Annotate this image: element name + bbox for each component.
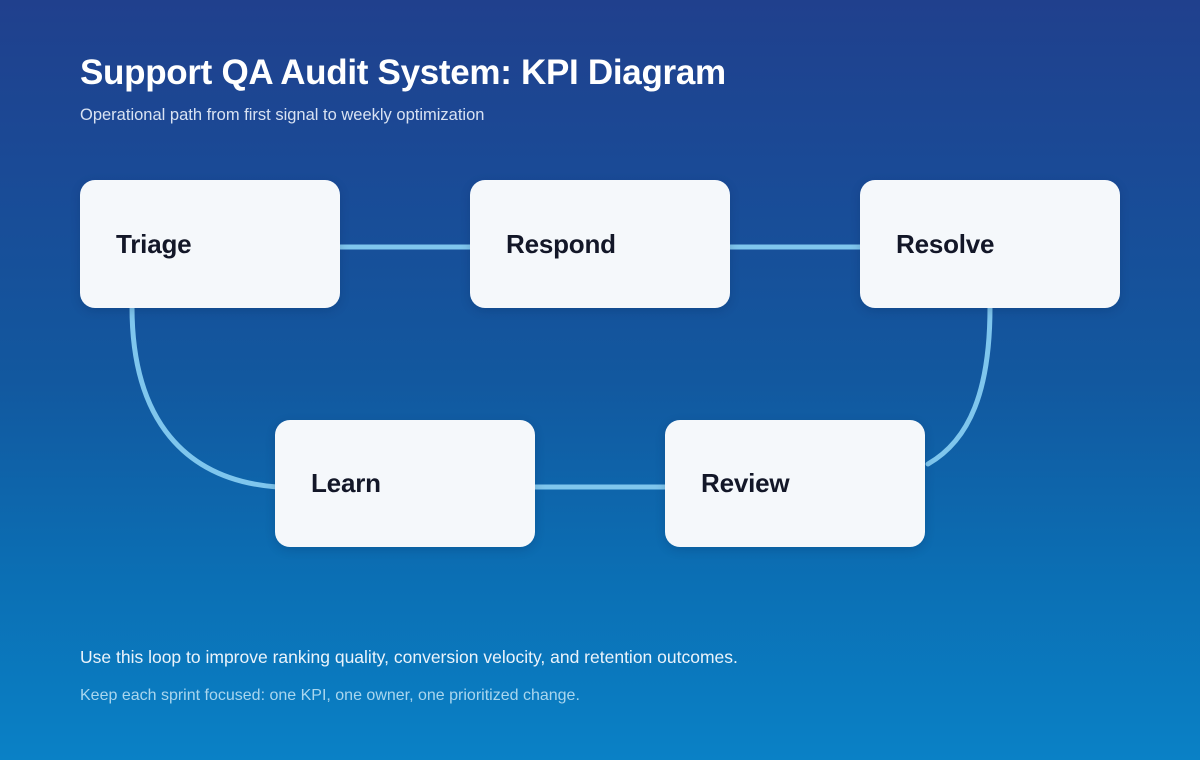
node-learn-label: Learn	[275, 468, 381, 499]
node-review[interactable]: Review	[665, 420, 925, 547]
footer-primary-text: Use this loop to improve ranking quality…	[80, 646, 1120, 670]
node-review-label: Review	[665, 468, 789, 499]
node-respond[interactable]: Respond	[470, 180, 730, 308]
footer: Use this loop to improve ranking quality…	[80, 646, 1120, 706]
node-learn[interactable]: Learn	[275, 420, 535, 547]
node-respond-label: Respond	[470, 229, 616, 260]
footer-secondary-text: Keep each sprint focused: one KPI, one o…	[80, 685, 1120, 707]
node-triage[interactable]: Triage	[80, 180, 340, 308]
node-triage-label: Triage	[80, 229, 191, 260]
edge-resolve-review	[928, 307, 990, 464]
node-resolve-label: Resolve	[860, 229, 994, 260]
node-resolve[interactable]: Resolve	[860, 180, 1120, 308]
edge-learn-triage	[132, 307, 277, 487]
